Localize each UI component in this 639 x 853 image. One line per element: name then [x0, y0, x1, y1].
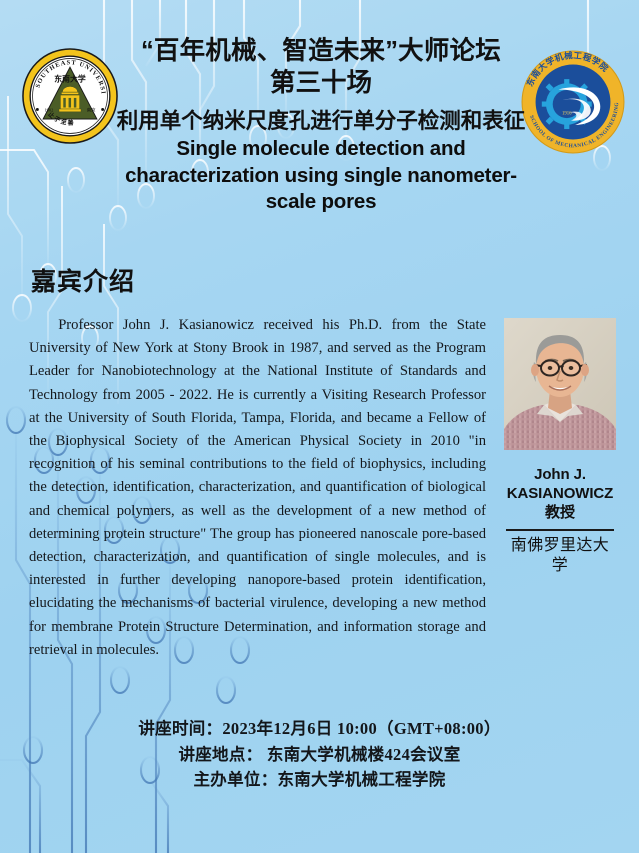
speaker-academic-title: 教授 [504, 503, 616, 523]
speaker-name-line1: John J. [504, 466, 616, 485]
speaker-name: John J. KASIANOWICZ [504, 466, 616, 503]
speaker-portrait-photo [504, 318, 616, 450]
topic-title-english-line1: Single molecule detection and [96, 137, 546, 162]
topic-title-english-line3: scale pores [96, 190, 546, 215]
svg-text:南京: 南京 [87, 106, 96, 113]
speaker-affiliation: 南佛罗里达大学 [504, 536, 616, 576]
svg-text:1916: 1916 [562, 111, 572, 116]
svg-text:1902: 1902 [44, 107, 53, 112]
speaker-biography-text: Professor John J. Kasianowicz received h… [29, 314, 486, 662]
topic-title-english-line2: characterization using single nanometer- [96, 164, 546, 189]
speaker-name-line2: KASIANOWICZ [504, 485, 616, 504]
speaker-card: John J. KASIANOWICZ 教授 南佛罗里达大学 [504, 318, 616, 576]
forum-title-line2: 第三十场 [96, 67, 546, 99]
title-block: “百年机械、智造未来”大师论坛 第三十场 利用单个纳米尺度孔进行单分子检测和表征… [96, 36, 546, 215]
poster-footer: 讲座时间：2023年12月6日 10:00（GMT+08:00） 讲座地点： 东… [0, 716, 639, 793]
lecture-place: 讲座地点： 东南大学机械楼424会议室 [0, 742, 639, 768]
lecture-time: 讲座时间：2023年12月6日 10:00（GMT+08:00） [0, 716, 639, 742]
lecture-organizer: 主办单位：东南大学机械工程学院 [0, 767, 639, 793]
poster-header: 东南大学 1902 南京 SOUTHEAST UNIVERSITY 止于至善 [0, 0, 639, 232]
seminar-poster: 东南大学 1902 南京 SOUTHEAST UNIVERSITY 止于至善 [0, 0, 639, 853]
topic-title-chinese: 利用单个纳米尺度孔进行单分子检测和表征 [96, 108, 546, 135]
forum-title-line1: “百年机械、智造未来”大师论坛 [96, 36, 546, 67]
section-heading-guest-introduction: 嘉宾介绍 [31, 262, 135, 298]
speaker-divider-line [506, 529, 614, 531]
svg-text:东南大学: 东南大学 [54, 74, 86, 84]
